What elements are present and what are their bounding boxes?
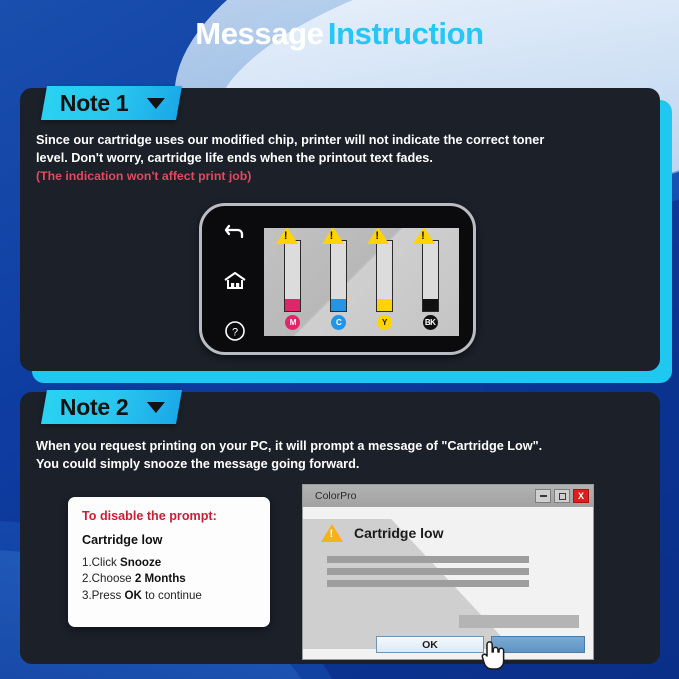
- svg-text:?: ?: [232, 327, 238, 339]
- toner-badge: Y: [377, 315, 392, 330]
- help-icon[interactable]: ?: [224, 320, 246, 342]
- note2-line2: You could simply snooze the message goin…: [36, 455, 664, 473]
- toner-gauge: M: [276, 228, 310, 330]
- printer-control-panel: ? M C Y BK: [199, 203, 476, 355]
- toner-gauge: C: [322, 228, 356, 330]
- printer-screen: M C Y BK: [264, 228, 459, 336]
- note2-line1: When you request printing on your PC, it…: [36, 437, 664, 455]
- warning-triangle-icon: [413, 228, 435, 244]
- step-emphasis: 2 Months: [135, 572, 186, 585]
- placeholder-bar: [459, 615, 579, 628]
- maximize-icon[interactable]: [554, 489, 570, 503]
- toner-badge: C: [331, 315, 346, 330]
- dialog-button-row: OK: [303, 636, 593, 653]
- toner-fill: [285, 299, 300, 311]
- toner-gauge: BK: [413, 228, 447, 330]
- chevron-down-icon[interactable]: [147, 402, 165, 413]
- step-number: 1.: [82, 556, 92, 569]
- dialog-title-bar[interactable]: ColorPro X: [303, 485, 593, 507]
- warning-triangle-icon: [367, 228, 389, 244]
- toner-badge: M: [285, 315, 300, 330]
- step-text-post: to continue: [142, 589, 202, 602]
- placeholder-bar: [327, 580, 529, 587]
- list-item: 2.Choose 2 Months: [82, 571, 256, 587]
- minimize-icon[interactable]: [535, 489, 551, 503]
- toner-fill: [423, 299, 438, 311]
- step-emphasis: Snooze: [120, 556, 161, 569]
- dialog-message-row: Cartridge low: [303, 507, 593, 542]
- tip-card-heading: To disable the prompt:: [82, 509, 256, 523]
- dialog-body: Cartridge low OK: [303, 507, 593, 660]
- hand-pointer-cursor: [479, 639, 505, 676]
- dialog-title: ColorPro: [315, 490, 356, 502]
- dialog-message: Cartridge low: [354, 525, 443, 541]
- cartridge-low-dialog: ColorPro X Cartridge low OK: [302, 484, 594, 660]
- placeholder-bar: [327, 556, 529, 563]
- chevron-down-icon[interactable]: [147, 98, 165, 109]
- note1-text: Since our cartridge uses our modified ch…: [36, 131, 664, 186]
- note1-banner[interactable]: Note 1: [41, 86, 181, 120]
- step-emphasis: OK: [125, 589, 142, 602]
- home-icon[interactable]: [223, 271, 247, 291]
- back-arrow-icon[interactable]: [223, 222, 247, 242]
- toner-fill: [377, 299, 392, 311]
- note1-line2: level. Don't worry, cartridge life ends …: [36, 149, 664, 167]
- note2-label: Note 2: [60, 394, 129, 421]
- toner-tube: [330, 240, 347, 312]
- warning-triangle-icon: [276, 228, 298, 244]
- placeholder-bar: [327, 568, 529, 575]
- toner-fill: [331, 299, 346, 311]
- title-word-primary: Message: [195, 16, 323, 51]
- toner-tube: [284, 240, 301, 312]
- printer-side-buttons: ?: [216, 222, 254, 342]
- page-title: Message Instruction: [0, 16, 679, 52]
- step-text: Press: [92, 589, 125, 602]
- step-number: 2.: [82, 572, 92, 585]
- toner-gauges: M C Y BK: [264, 228, 459, 336]
- title-word-accent: Instruction: [328, 16, 484, 51]
- tip-card-subheading: Cartridge low: [82, 533, 256, 547]
- close-icon[interactable]: X: [573, 489, 589, 503]
- list-item: 1.Click Snooze: [82, 555, 256, 571]
- step-number: 3.: [82, 589, 92, 602]
- step-text: Click: [92, 556, 120, 569]
- warning-triangle-icon: [321, 524, 343, 542]
- step-text: Choose: [92, 572, 135, 585]
- tip-card: To disable the prompt: Cartridge low 1.C…: [68, 497, 270, 627]
- list-item: 3.Press OK to continue: [82, 588, 256, 604]
- note2-text: When you request printing on your PC, it…: [36, 437, 664, 474]
- dialog-placeholder-bars: [327, 556, 529, 587]
- tip-card-steps: 1.Click Snooze 2.Choose 2 Months 3.Press…: [82, 555, 256, 604]
- note2-banner[interactable]: Note 2: [41, 390, 181, 424]
- note1-label: Note 1: [60, 90, 129, 117]
- toner-tube: [422, 240, 439, 312]
- ok-button[interactable]: OK: [376, 636, 484, 653]
- toner-gauge: Y: [367, 228, 401, 330]
- toner-badge: BK: [423, 315, 438, 330]
- secondary-button[interactable]: [491, 636, 585, 653]
- note1-subnote: (The indication won't affect print job): [36, 168, 664, 186]
- warning-triangle-icon: [322, 228, 344, 244]
- toner-tube: [376, 240, 393, 312]
- window-controls: X: [535, 489, 589, 503]
- note1-line1: Since our cartridge uses our modified ch…: [36, 131, 664, 149]
